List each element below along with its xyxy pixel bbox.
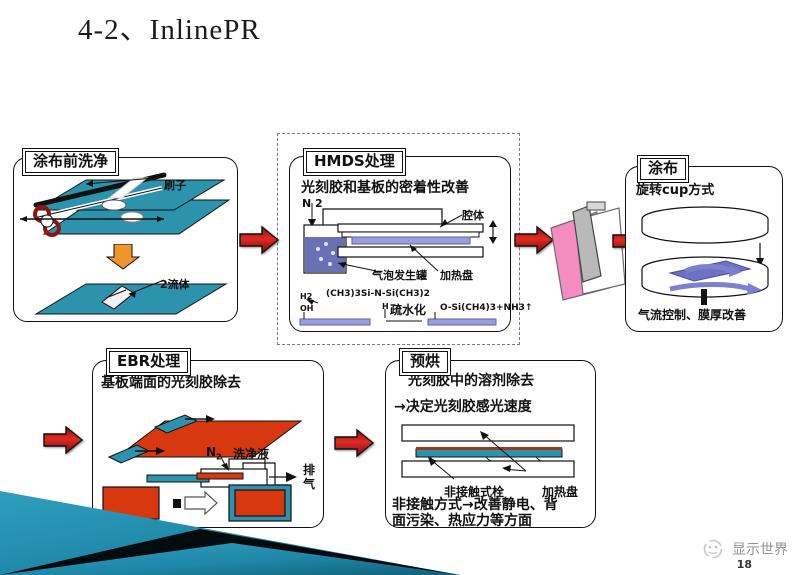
clean-lower-illustration [14,266,239,326]
ebr-headline: 基板端面的光刻胶除去 [101,375,241,393]
stage-pre-clean[interactable]: 刷子 2流体 [13,157,238,322]
annotation-rinse: 洗净液 [233,445,269,462]
stage-label-pre-clean-text: 涂布前洗净 [25,151,116,173]
annotation-hotplate: 加热盘 [440,267,473,283]
prebake-illustration [386,423,597,481]
prebake-footnote-line1: 非接触方式→改善静电、背 [392,497,558,515]
annotation-chamber: 腔体 [462,207,484,223]
stage-label-pre-clean: 涂布前洗净 [22,148,119,176]
prebake-footnote-line2: 面污染、热应力等方面 [392,513,532,531]
annotation-ebr-n2-text: N [206,445,216,459]
ebr-before-after-illustration [93,483,325,529]
stage-label-hmds: HMDS处理 [303,148,406,176]
circle-face-logo-icon [700,539,726,559]
coating-illustration [626,203,784,308]
arrow-clean-to-hmds [238,225,280,255]
annotation-n2: N 2 [302,197,323,210]
hmds-chemistry-illustration [290,299,512,329]
annotation-ebr-n2: N2 [206,445,222,461]
stage-label-ebr: EBR处理 [106,348,191,376]
watermark-text: 显示世界 [732,539,788,559]
slide-canvas: 4-2、InlinePR 刷子 [0,0,800,575]
stage-label-hmds-text: HMDS处理 [306,151,403,173]
annotation-bubbler: 气泡发生罐 [372,267,427,283]
coating-footnote: 气流控制、膜厚改善 [638,308,746,323]
page-title: 4-2、InlinePR [78,6,261,48]
stage-coating[interactable]: 旋转cup方式 气流控制、膜厚改善 [625,166,783,332]
stage-label-prebake: 预烘 [399,348,451,376]
annotation-brush: 刷子 [164,177,186,193]
coating-headline: 旋转cup方式 [636,183,714,199]
stage-prebake[interactable]: 光刻胶中的溶剂除去 →决定光刻胶感光速度 非接触式栓 加热盘 非接触方式→改善静… [385,360,596,528]
chem-reagent: (CH3)3Si-N-Si(CH3)2 [326,289,430,299]
page-number: 18 [737,558,752,571]
annotation-ebr-n2-sub: 2 [216,452,222,461]
stage-label-coating: 涂布 [637,155,689,183]
watermark: 显示世界 [700,539,788,559]
stage-label-prebake-text: 预烘 [402,351,448,373]
hmds-headline: 光刻胶和基板的密着性改善 [301,180,469,198]
arrow-into-ebr [42,425,84,455]
prebake-subhead: →决定光刻胶感光速度 [394,399,532,417]
stage-hmds[interactable]: 光刻胶和基板的密着性改善 [289,156,511,332]
stage-label-ebr-text: EBR处理 [109,351,188,373]
annotation-two-fluid: 2流体 [160,276,190,292]
stage-ebr[interactable]: 基板端面的光刻胶除去 N2 洗净液 排 气 [92,360,324,528]
arrow-ebr-to-prebake [333,428,375,458]
stage-label-coating-text: 涂布 [640,158,686,180]
